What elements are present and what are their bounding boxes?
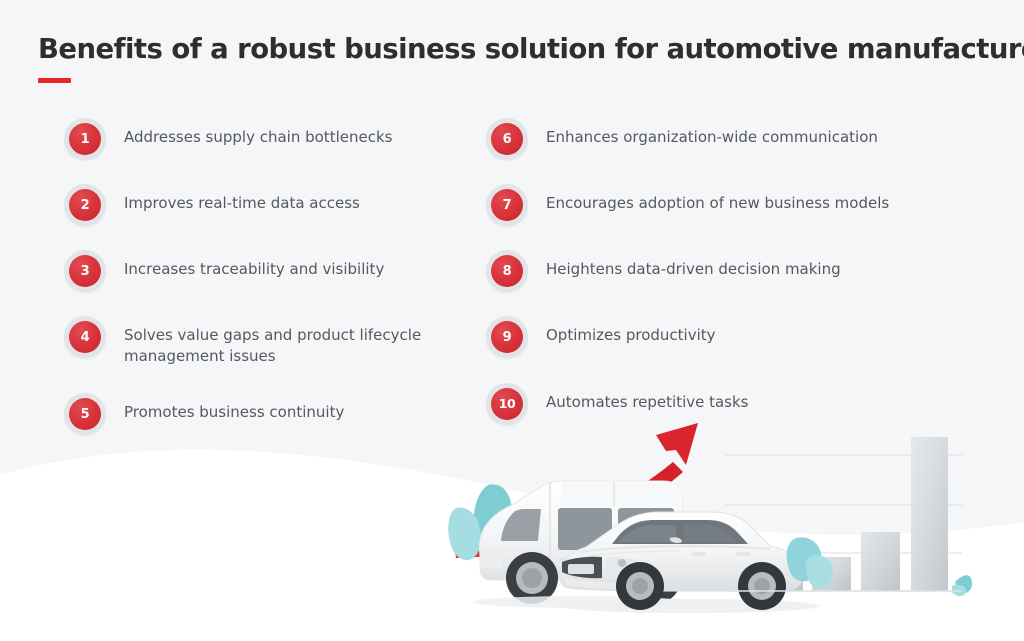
benefit-text: Heightens data-driven decision making	[546, 250, 841, 280]
page-title: Benefits of a robust business solution f…	[38, 34, 978, 65]
benefit-text: Promotes business continuity	[124, 393, 344, 423]
title-underline-rule	[38, 78, 71, 83]
benefit-number-label: 6	[491, 123, 523, 155]
benefit-number-badge: 9	[486, 316, 528, 358]
benefit-number-badge: 10	[486, 383, 528, 425]
benefit-number-label: 9	[491, 321, 523, 353]
benefit-number-label: 4	[69, 321, 101, 353]
title-block: Benefits of a robust business solution f…	[38, 34, 978, 83]
chart-bar-1	[765, 571, 803, 591]
illustration-growth-chart-vehicles	[440, 410, 1024, 641]
benefit-number-label: 10	[491, 388, 523, 420]
benefit-number-label: 5	[69, 398, 101, 430]
sedan-car-icon	[560, 512, 820, 613]
benefit-text: Optimizes productivity	[546, 316, 716, 346]
car-wheel	[738, 562, 786, 610]
benefit-item-2[interactable]: 2 Improves real-time data access	[64, 184, 360, 226]
delivery-van-icon	[474, 481, 686, 608]
benefit-text: Automates repetitive tasks	[546, 383, 749, 413]
chart-bar-2	[812, 557, 851, 591]
benefit-text: Addresses supply chain bottlenecks	[124, 118, 392, 148]
benefit-number-badge: 6	[486, 118, 528, 160]
benefit-item-4[interactable]: 4 Solves value gaps and product lifecycl…	[64, 316, 454, 368]
benefit-number-label: 2	[69, 189, 101, 221]
benefit-text: Enhances organization-wide communication	[546, 118, 878, 148]
chart-bar-3	[861, 532, 900, 591]
benefit-number-label: 7	[491, 189, 523, 221]
benefit-number-badge: 4	[64, 316, 106, 358]
benefit-number-badge: 1	[64, 118, 106, 160]
leaf-icon	[787, 537, 833, 588]
benefit-item-10[interactable]: 10 Automates repetitive tasks	[486, 383, 749, 425]
benefit-item-9[interactable]: 9 Optimizes productivity	[486, 316, 716, 358]
benefit-text: Improves real-time data access	[124, 184, 360, 214]
leaf-icon	[952, 575, 972, 596]
van-wheel	[506, 552, 558, 604]
benefit-number-badge: 3	[64, 250, 106, 292]
chart-gridlines	[725, 455, 962, 591]
leaf-icon	[448, 484, 513, 560]
infographic-canvas: Benefits of a robust business solution f…	[0, 0, 1024, 641]
benefit-item-8[interactable]: 8 Heightens data-driven decision making	[486, 250, 841, 292]
benefit-number-badge: 5	[64, 393, 106, 435]
growth-arrow-icon	[455, 423, 698, 558]
benefit-number-label: 3	[69, 255, 101, 287]
van-wheel	[629, 552, 681, 604]
benefit-item-6[interactable]: 6 Enhances organization-wide communicati…	[486, 118, 878, 160]
chart-bars	[765, 437, 948, 591]
benefit-text: Encourages adoption of new business mode…	[546, 184, 889, 214]
benefit-item-3[interactable]: 3 Increases traceability and visibility	[64, 250, 384, 292]
car-wheel	[616, 562, 664, 610]
chart-bar-4	[911, 437, 948, 591]
benefit-number-label: 1	[69, 123, 101, 155]
benefit-number-badge: 7	[486, 184, 528, 226]
benefit-item-5[interactable]: 5 Promotes business continuity	[64, 393, 344, 435]
benefit-number-label: 8	[491, 255, 523, 287]
benefit-text: Solves value gaps and product lifecycle …	[124, 316, 454, 368]
benefit-number-badge: 2	[64, 184, 106, 226]
benefit-text: Increases traceability and visibility	[124, 250, 384, 280]
benefit-item-1[interactable]: 1 Addresses supply chain bottlenecks	[64, 118, 392, 160]
benefit-item-7[interactable]: 7 Encourages adoption of new business mo…	[486, 184, 889, 226]
benefit-number-badge: 8	[486, 250, 528, 292]
